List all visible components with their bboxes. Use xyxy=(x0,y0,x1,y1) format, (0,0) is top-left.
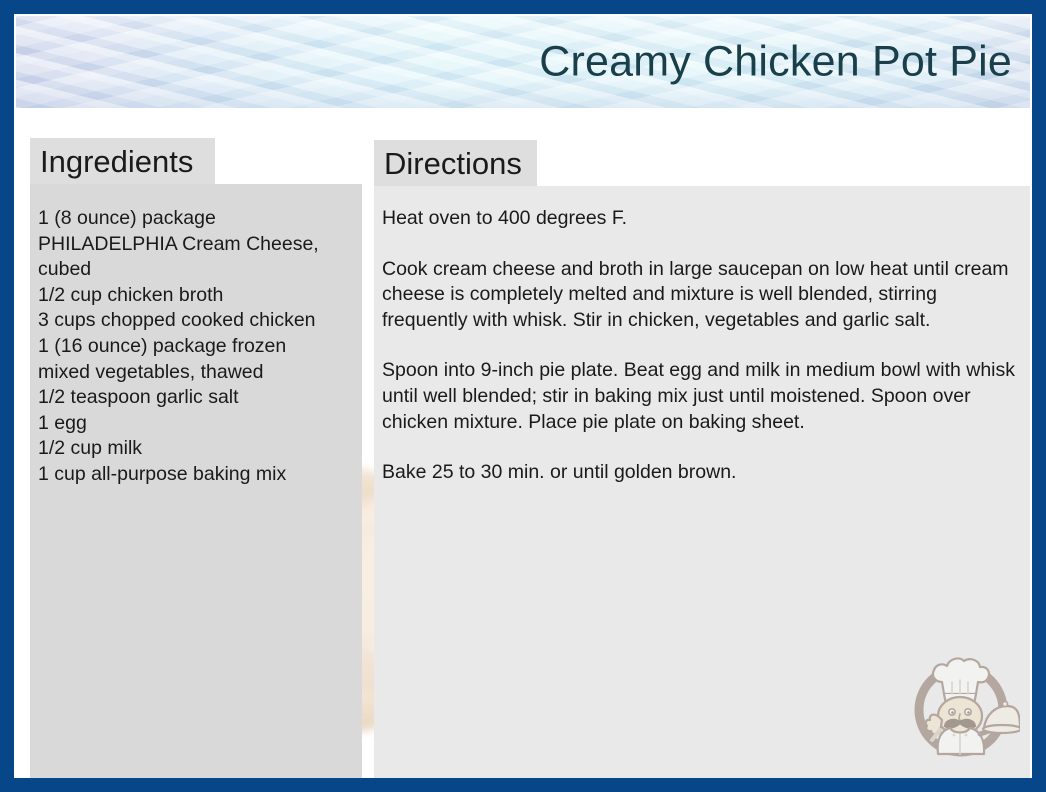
list-item: 1/2 cup chicken broth xyxy=(38,283,348,309)
directions-panel: Heat oven to 400 degrees F. Cook cream c… xyxy=(374,186,1030,787)
list-item: mixed vegetables, thawed xyxy=(38,360,348,386)
direction-step: Bake 25 to 30 min. or until golden brown… xyxy=(382,460,1020,486)
list-item: 3 cups chopped cooked chicken xyxy=(38,308,348,334)
header-banner: Creamy Chicken Pot Pie xyxy=(16,16,1030,108)
recipe-card: Creamy Chicken Pot Pie xyxy=(0,0,1046,792)
list-item: 1 (8 ounce) package xyxy=(38,206,348,232)
page-title: Creamy Chicken Pot Pie xyxy=(539,39,1012,84)
list-item: PHILADELPHIA Cream Cheese, xyxy=(38,232,348,258)
list-item: 1 cup all-purpose baking mix xyxy=(38,462,348,488)
direction-step: Cook cream cheese and broth in large sau… xyxy=(382,257,1020,334)
list-item: 1 egg xyxy=(38,411,348,437)
tab-ingredients: Ingredients xyxy=(30,138,215,184)
ingredients-heading: Ingredients xyxy=(40,146,193,177)
list-item: 1 (16 ounce) package frozen xyxy=(38,334,348,360)
directions-heading: Directions xyxy=(384,148,522,179)
list-item: 1/2 teaspoon garlic salt xyxy=(38,385,348,411)
tab-directions: Directions xyxy=(374,140,537,186)
ingredients-panel: 1 (8 ounce) package PHILADELPHIA Cream C… xyxy=(30,184,362,786)
ingredient-list: 1 (8 ounce) package PHILADELPHIA Cream C… xyxy=(38,206,348,488)
direction-step: Heat oven to 400 degrees F. xyxy=(382,206,1020,232)
list-item: cubed xyxy=(38,257,348,283)
direction-step: Spoon into 9-inch pie plate. Beat egg an… xyxy=(382,358,1020,435)
list-item: 1/2 cup milk xyxy=(38,436,348,462)
